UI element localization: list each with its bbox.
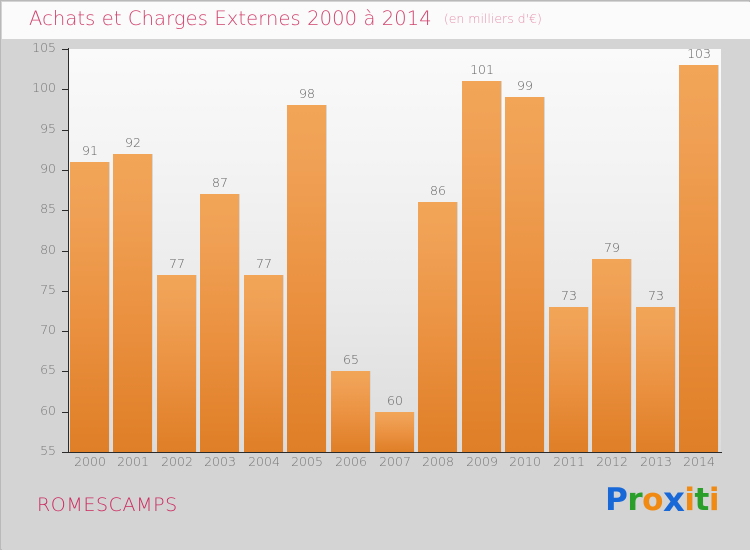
- y-axis-tick-label: 105: [2, 42, 56, 56]
- y-axis-tick: [62, 331, 69, 332]
- y-axis-tick: [62, 210, 69, 211]
- bar-value-label: 77: [149, 258, 205, 271]
- bar-value-label: 103: [671, 48, 727, 61]
- bar-value-label: 65: [323, 354, 379, 367]
- y-axis-tick: [62, 291, 69, 292]
- bar[interactable]: [113, 154, 153, 452]
- bar[interactable]: [418, 202, 458, 452]
- chart-title: Achats et Charges Externes 2000 à 2014: [29, 7, 432, 30]
- bar-value-label: 73: [541, 290, 597, 303]
- y-axis-tick-label: 75: [2, 284, 56, 298]
- y-axis-tick-value: 65: [10, 364, 56, 377]
- y-axis-tick: [62, 49, 69, 50]
- y-axis-tick-label: 100: [2, 82, 56, 96]
- y-axis-tick-label: 90: [2, 163, 56, 177]
- y-axis-tick-value: 95: [10, 123, 56, 136]
- bar-value-label: 79: [584, 242, 640, 255]
- bar-value-label: 86: [410, 185, 466, 198]
- entity-name: ROMESCAMPS: [37, 494, 178, 516]
- chart-area: 556065707580859095100105 919277877798656…: [2, 39, 750, 473]
- y-axis-tick: [62, 251, 69, 252]
- bar[interactable]: [244, 275, 284, 452]
- title-line: Achats et Charges Externes 2000 à 2014(e…: [29, 7, 542, 30]
- y-axis-tick-value: 75: [10, 284, 56, 297]
- chart-subtitle: (en milliers d'€): [444, 11, 542, 26]
- chart-page: Achats et Charges Externes 2000 à 2014(e…: [0, 0, 750, 550]
- chart-footer: ROMESCAMPS Proxiti: [2, 473, 750, 550]
- bar[interactable]: [70, 162, 110, 452]
- logo-letter-t-5: t: [695, 485, 709, 516]
- logo-letter-P-0: P: [605, 485, 627, 516]
- bar-value-label: 99: [497, 80, 553, 93]
- bar[interactable]: [200, 194, 240, 452]
- y-axis-tick-label: 60: [2, 405, 56, 419]
- y-axis-tick-label: 70: [2, 324, 56, 338]
- y-axis-tick-value: 55: [10, 445, 56, 458]
- bar[interactable]: [505, 97, 545, 452]
- logo-letter-x-3: x: [663, 483, 684, 517]
- bar[interactable]: [287, 105, 327, 452]
- bar[interactable]: [592, 259, 632, 452]
- y-axis-tick: [62, 452, 69, 453]
- y-axis-tick-value: 70: [10, 324, 56, 337]
- logo-letter-i-6: i: [709, 485, 719, 516]
- bar-value-label: 73: [628, 290, 684, 303]
- bar-value-label: 92: [105, 137, 161, 150]
- logo-letter-i-4: i: [684, 485, 694, 516]
- y-axis-tick-value: 105: [10, 42, 56, 55]
- logo-letter-o-2: o: [642, 485, 663, 516]
- y-axis-tick-value: 100: [10, 82, 56, 95]
- bar[interactable]: [375, 412, 415, 452]
- bar[interactable]: [157, 275, 197, 452]
- chart-header: Achats et Charges Externes 2000 à 2014(e…: [2, 2, 750, 39]
- y-axis-tick: [62, 170, 69, 171]
- bar[interactable]: [679, 65, 719, 452]
- bar[interactable]: [636, 307, 676, 452]
- logo-letter-r-1: r: [627, 485, 642, 516]
- proxiti-logo[interactable]: Proxiti: [605, 482, 719, 516]
- y-axis-tick-label: 95: [2, 123, 56, 137]
- bar-value-label: 101: [454, 64, 510, 77]
- x-axis-line: [68, 452, 722, 453]
- bar[interactable]: [462, 81, 502, 452]
- y-axis-tick: [62, 371, 69, 372]
- y-axis-tick-label: 80: [2, 244, 56, 258]
- bar[interactable]: [331, 371, 371, 452]
- y-axis-tick-value: 90: [10, 163, 56, 176]
- bar-value-label: 98: [279, 88, 335, 101]
- x-axis-tick-label: 2014: [671, 456, 727, 469]
- bar-value-label: 60: [367, 395, 423, 408]
- y-axis-tick: [62, 130, 69, 131]
- y-axis-tick-label: 55: [2, 445, 56, 459]
- y-axis-tick-label: 85: [2, 203, 56, 217]
- y-axis-tick: [62, 412, 69, 413]
- y-axis-tick: [62, 89, 69, 90]
- bar[interactable]: [549, 307, 589, 452]
- y-axis-tick-value: 85: [10, 203, 56, 216]
- y-axis-tick-value: 80: [10, 244, 56, 257]
- y-axis-tick-value: 60: [10, 405, 56, 418]
- y-axis-tick-label: 65: [2, 364, 56, 378]
- bar-value-label: 77: [236, 258, 292, 271]
- bar-value-label: 87: [192, 177, 248, 190]
